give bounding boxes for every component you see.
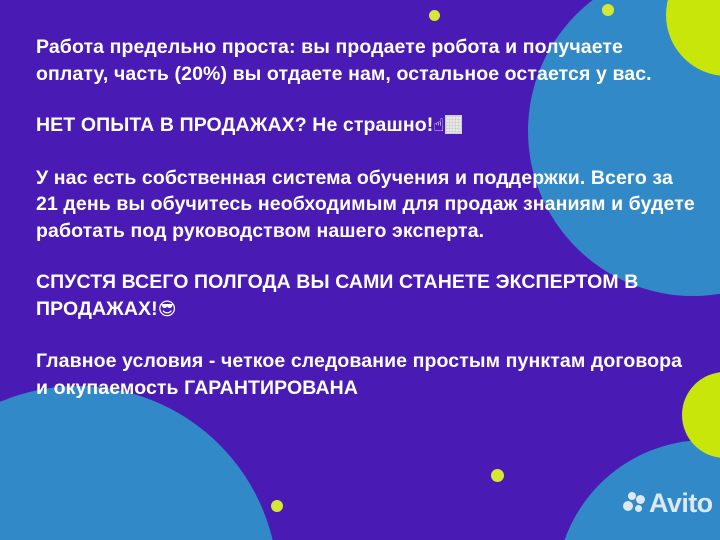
paragraph-offer-description-text: Работа предельно проста: вы продаете роб… <box>36 36 652 85</box>
promo-image-canvas: Работа предельно проста: вы продаете роб… <box>0 0 720 540</box>
avito-watermark: Avito <box>623 489 713 517</box>
paragraph-no-experience: НЕТ ОПЫТА В ПРОДАЖАХ? Не страшно!☝ <box>36 112 696 140</box>
blob-bottom-left-blue-circle <box>0 386 278 540</box>
paragraph-no-experience-text: НЕТ ОПЫТА В ПРОДАЖАХ? Не страшно! <box>36 114 433 136</box>
avito-dot-3 <box>636 495 645 504</box>
decorative-dot-top-center <box>429 10 440 21</box>
promo-text-block: Работа предельно проста: вы продаете роб… <box>36 34 696 401</box>
paragraph-become-expert: СПУСТЯ ВСЕГО ПОЛГОДА ВЫ САМИ СТАНЕТЕ ЭКС… <box>36 269 696 323</box>
pointing-up-hand-icon: ☝ <box>433 115 444 136</box>
paragraph-become-expert-text: СПУСТЯ ВСЕГО ПОЛГОДА ВЫ САМИ СТАНЕТЕ ЭКС… <box>36 271 644 320</box>
decorative-dot-top-right <box>602 4 614 16</box>
decorative-dot-bottom-left <box>271 500 283 512</box>
paragraph-main-condition-text: Главное условия - четкое следование прос… <box>36 350 688 399</box>
avito-dot-4 <box>635 505 642 512</box>
avito-dot-2 <box>628 492 636 500</box>
paragraph-training-system: У нас есть собственная система обучения … <box>36 165 696 245</box>
paragraph-main-condition: Главное условия - четкое следование прос… <box>36 348 696 401</box>
paragraph-training-system-text: У нас есть собственная система обучения … <box>36 167 700 242</box>
smiling-face-sunglasses-icon: 😎 <box>158 299 177 320</box>
decorative-dot-bottom-mid <box>491 469 504 482</box>
avito-wordmark: Avito <box>649 490 713 517</box>
avito-dot-1 <box>623 501 633 511</box>
avito-dots-mark-icon <box>623 492 646 514</box>
paragraph-offer-description: Работа предельно проста: вы продаете роб… <box>36 34 696 87</box>
missing-glyph-box-icon <box>445 115 462 134</box>
